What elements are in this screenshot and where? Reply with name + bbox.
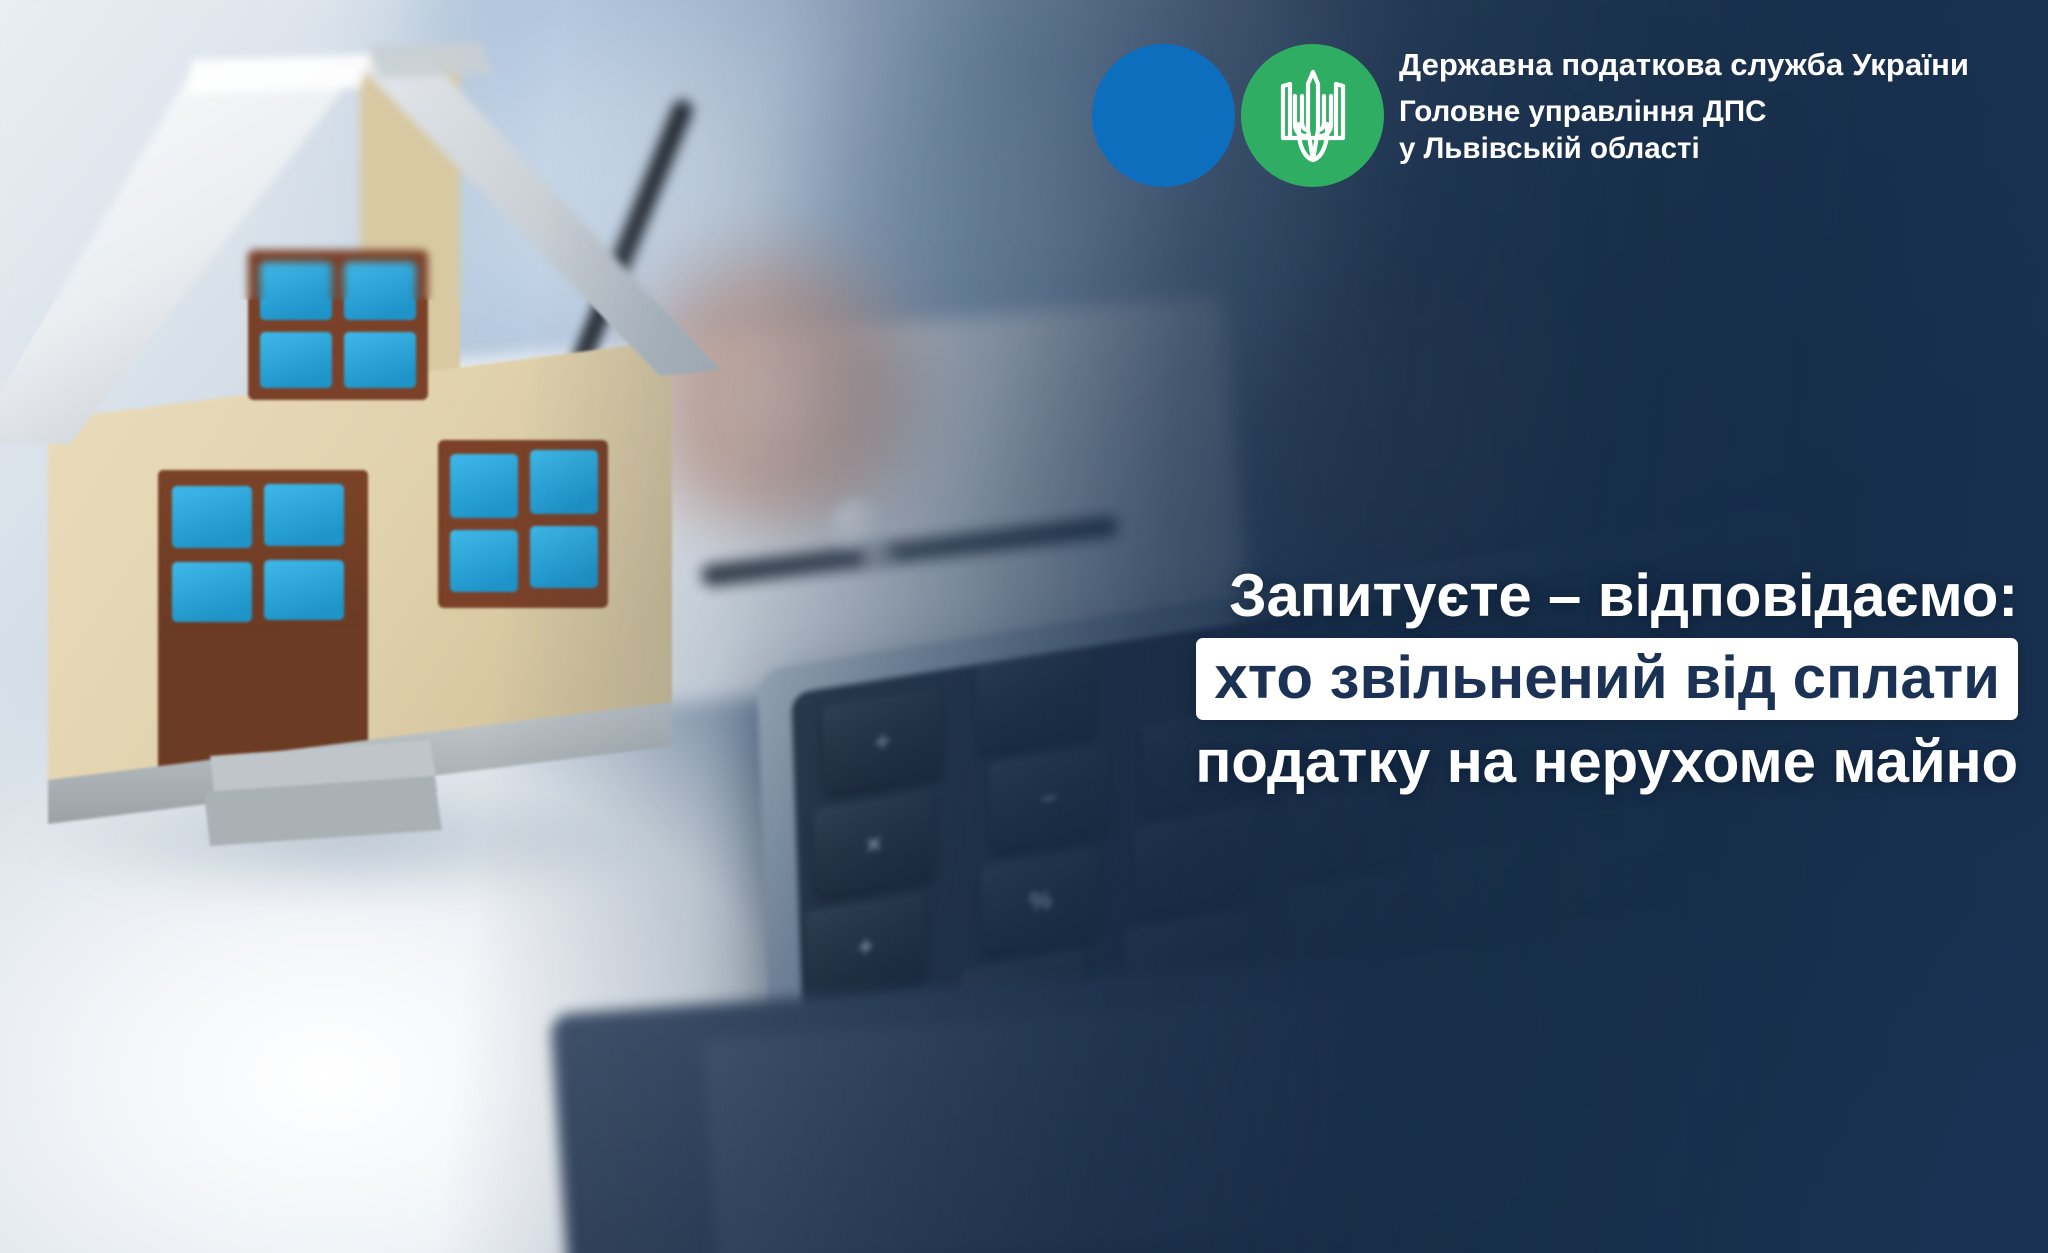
agency-name-line-2: Головне управління ДПС	[1399, 93, 1969, 130]
headline-line-3: податку на нерухоме майно	[1018, 732, 2018, 792]
calculator-key-multiply: ×	[813, 791, 935, 896]
headline-line-1: Запитуєте – відповідаємо:	[1018, 566, 2018, 626]
calculator-key-percent: %	[980, 848, 1102, 953]
calculator-key	[1134, 809, 1256, 914]
headline-line-2-highlight: хто звільнений від сплати	[1196, 638, 2018, 720]
hand-blur	[1270, 250, 1600, 590]
calculator-key	[1574, 797, 1702, 905]
green-circle-icon	[1241, 44, 1384, 187]
model-house	[0, 40, 720, 850]
blue-circle-icon	[1092, 44, 1235, 187]
agency-logo: Державна податкова служба України Головн…	[1092, 44, 1969, 187]
bokeh-highlight	[860, 540, 900, 580]
agency-name-line-3: у Львівській області	[1399, 130, 1969, 167]
calculator-key	[1428, 834, 1556, 942]
poster-canvas: ÷ × + − %	[0, 0, 2048, 1253]
headline-line-2-wrapper: хто звільнений від сплати	[1018, 638, 2018, 720]
ukraine-trident-icon	[1276, 68, 1350, 164]
logo-marks	[1092, 44, 1382, 187]
calculator-key-divide: ÷	[822, 689, 944, 794]
headline-block: Запитуєте – відповідаємо: хто звільнений…	[1018, 566, 2018, 792]
calculator-key-plus: +	[805, 894, 927, 999]
laptop-screen	[702, 958, 1895, 1253]
agency-name-line-1: Державна податкова служба України	[1399, 49, 1969, 80]
agency-name-block: Державна податкова служба України Головн…	[1399, 44, 1969, 167]
